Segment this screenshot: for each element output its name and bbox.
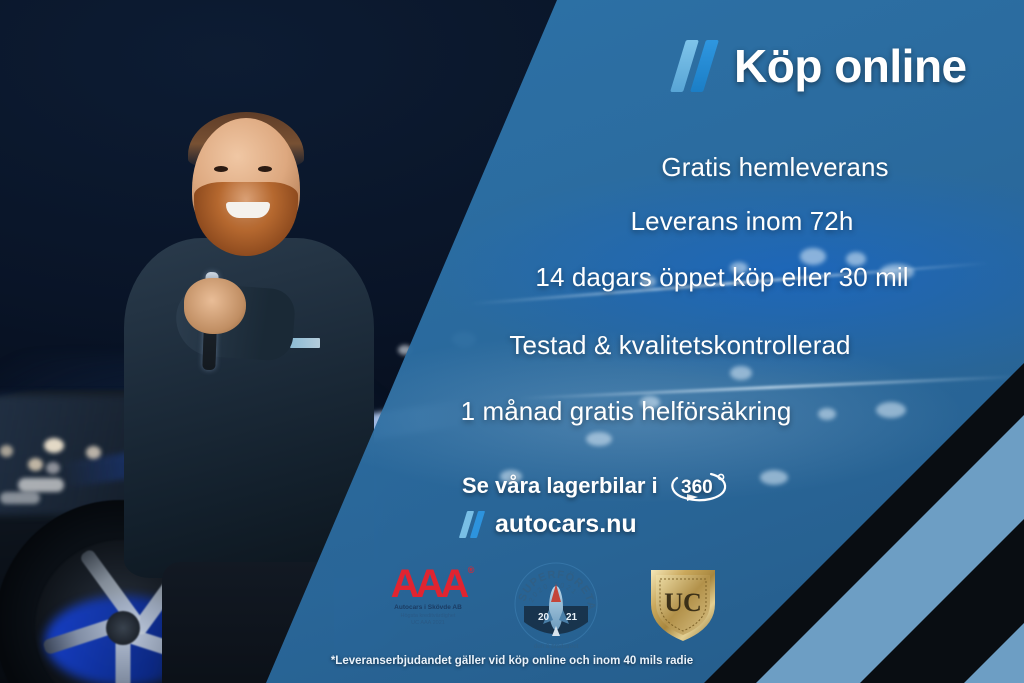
badge-360-icon: 360 — [667, 468, 729, 504]
man-eye — [258, 166, 272, 172]
registered-mark: ® — [468, 566, 475, 574]
bokeh-light — [86, 446, 101, 459]
cta-line-2[interactable]: autocars.nu — [462, 510, 782, 539]
aaa-rating-line-2: UC AAA 2021 — [369, 620, 487, 628]
svg-text:21: 21 — [566, 612, 578, 623]
disclaimer-text: *Leveranserbjudandet gäller vid köp onli… — [331, 655, 693, 667]
bokeh-light — [28, 458, 43, 471]
website-url[interactable]: autocars.nu — [495, 510, 637, 539]
aaa-credit-logo: AAA ® Autocars i Skövde AB Högsta kredit… — [369, 566, 487, 628]
cta-text: Se våra lagerbilar i — [462, 473, 658, 499]
man-hand — [184, 278, 246, 334]
man-smile — [226, 202, 270, 218]
uc-mark: UC — [664, 588, 702, 617]
bokeh-streak — [0, 492, 40, 504]
svg-text:360: 360 — [681, 477, 713, 498]
promo-banner: Köp online Gratis hemleverans Leverans i… — [0, 0, 1024, 683]
double-slash-icon — [676, 40, 720, 92]
dnb-label: dun & bradstreet — [534, 644, 579, 650]
svg-text:20: 20 — [538, 612, 550, 623]
bokeh-streak — [18, 478, 64, 492]
man-eye — [214, 166, 228, 172]
polo-chest-logo — [290, 338, 320, 348]
certification-logos: AAA ® Autocars i Skövde AB Högsta kredit… — [355, 558, 725, 650]
headline-block: Köp online — [676, 40, 967, 92]
bokeh-light — [44, 438, 64, 453]
superforetag-badge: SUPERFÖRETAG 2020 2021 20 21 dun & brads… — [510, 558, 602, 650]
aaa-rating-line-1: Högsta kreditvärdighet — [369, 613, 487, 621]
double-slash-icon-small — [462, 511, 488, 538]
uc-shield-logo: UC — [645, 564, 721, 644]
aaa-wordmark: AAA ® — [391, 566, 466, 602]
bokeh-light — [46, 462, 60, 474]
cta-line-1: Se våra lagerbilar i 360 — [462, 468, 782, 504]
page-title: Köp online — [734, 43, 967, 89]
bokeh-light — [0, 445, 13, 457]
aaa-letters: AAA — [391, 562, 466, 606]
cta-block[interactable]: Se våra lagerbilar i 360 autocars.nu — [462, 468, 782, 539]
